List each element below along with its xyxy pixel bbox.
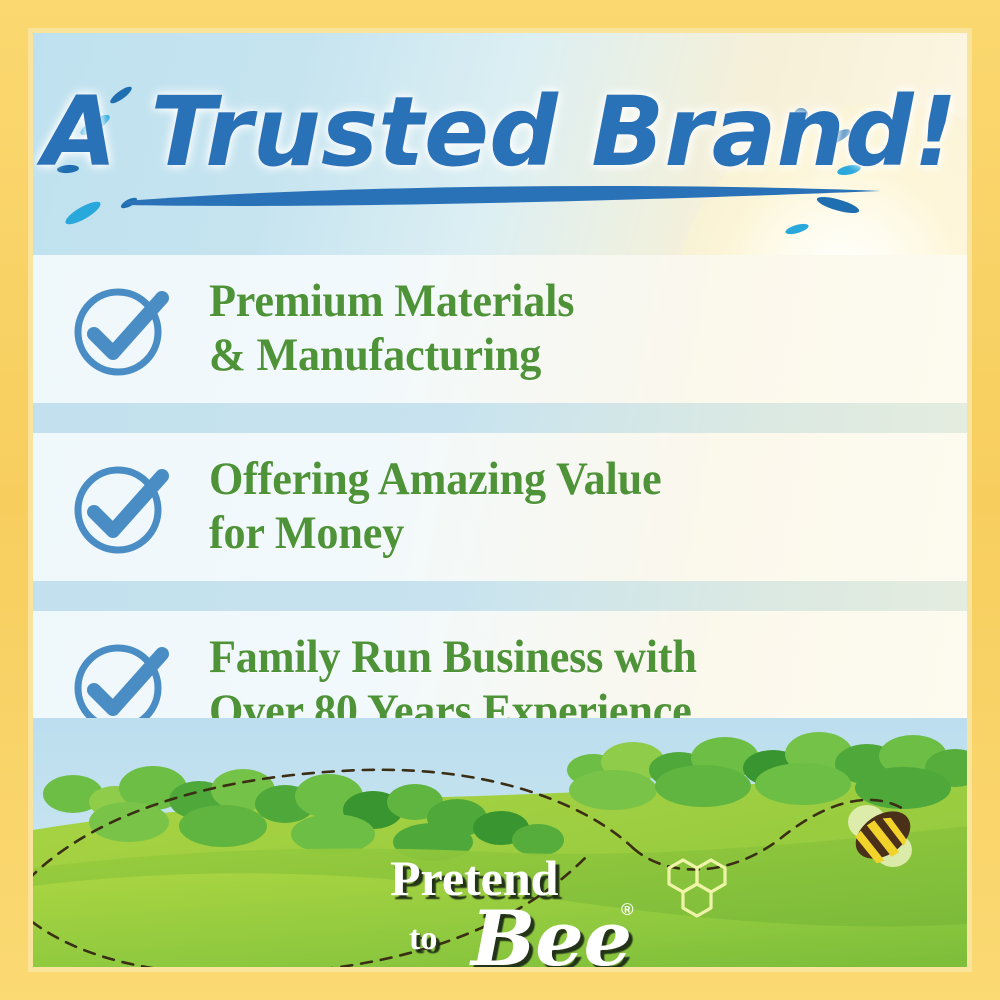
row-separator bbox=[33, 581, 967, 611]
headline-graphic: A Trusted Brand! bbox=[33, 33, 967, 255]
benefit-row: Offering Amazing Value for Money bbox=[33, 433, 967, 581]
benefit-text: Premium Materials & Manufacturing bbox=[209, 275, 574, 382]
headline-area: A Trusted Brand! bbox=[33, 33, 967, 255]
poster-stage: A Trusted Brand! Premium Materials & Man… bbox=[33, 33, 967, 967]
headline-text: A Trusted Brand! bbox=[36, 76, 958, 188]
check-circle-icon bbox=[33, 276, 209, 382]
benefit-text: Offering Amazing Value for Money bbox=[209, 453, 661, 560]
benefits-list: Premium Materials & Manufacturing Offeri… bbox=[33, 255, 967, 718]
landscape-scene bbox=[33, 718, 967, 967]
headline-underline bbox=[125, 186, 881, 206]
check-circle-icon bbox=[33, 454, 209, 560]
promo-poster: A Trusted Brand! Premium Materials & Man… bbox=[0, 0, 1000, 1000]
benefit-row: Premium Materials & Manufacturing bbox=[33, 255, 967, 403]
row-separator bbox=[33, 403, 967, 433]
